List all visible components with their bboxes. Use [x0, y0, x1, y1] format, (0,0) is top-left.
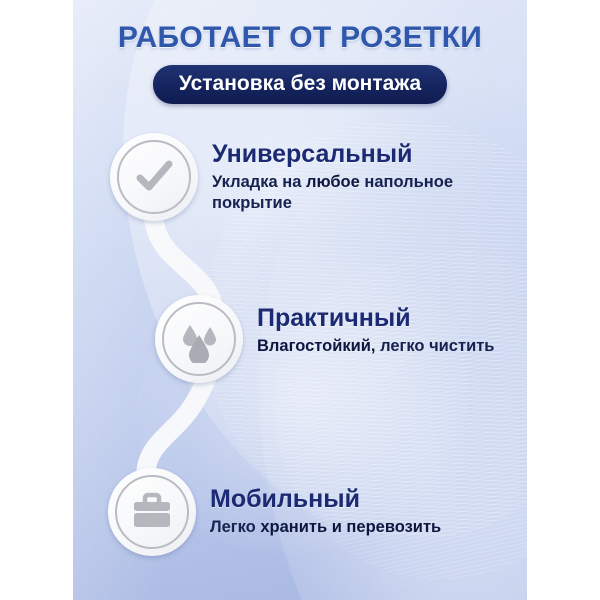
icon-ring [117, 140, 191, 214]
desc-emphasis: любое [306, 173, 360, 191]
feature-text: Универсальный Укладка на любое напольное… [198, 133, 522, 214]
feature-description: Легко хранить и перевозить [210, 517, 441, 538]
feature-description: Влагостойкий, легко чистить [257, 336, 494, 357]
page-title: РАБОТАЕТ ОТ РОЗЕТКИ [73, 0, 527, 55]
feature-description: Укладка на любое напольное покрытие [212, 172, 522, 214]
feature-text: Практичный Влагостойкий, легко чистить [243, 295, 494, 357]
icon-ring [162, 302, 236, 376]
desc-suffix: легко чистить [375, 337, 494, 355]
water-drops-icon [175, 315, 223, 363]
feature-icon-circle [110, 133, 198, 221]
badge-container: Установка без монтажа [73, 65, 527, 104]
feature-universal: Универсальный Укладка на любое напольное… [110, 133, 522, 221]
desc-prefix: Укладка на [212, 173, 306, 191]
feature-icon-circle [155, 295, 243, 383]
desc-emphasis: хранить и перевозить [260, 518, 441, 536]
desc-prefix: Легко [210, 518, 260, 536]
toolbox-icon [128, 490, 176, 534]
header: РАБОТАЕТ ОТ РОЗЕТКИ Установка без монтаж… [73, 0, 527, 104]
feature-practical: Практичный Влагостойкий, легко чистить [155, 295, 494, 383]
feature-title: Практичный [257, 305, 494, 331]
promo-poster: РАБОТАЕТ ОТ РОЗЕТКИ Установка без монтаж… [0, 0, 600, 600]
icon-ring [115, 475, 189, 549]
feature-mobile: Мобильный Легко хранить и перевозить [108, 468, 441, 556]
subtitle-badge: Установка без монтажа [153, 65, 447, 104]
check-mark-icon [131, 154, 177, 200]
feature-icon-circle [108, 468, 196, 556]
feature-text: Мобильный Легко хранить и перевозить [196, 468, 441, 538]
feature-title: Универсальный [212, 141, 522, 167]
desc-emphasis: Влагостойкий, [257, 337, 375, 355]
feature-title: Мобильный [210, 486, 441, 512]
